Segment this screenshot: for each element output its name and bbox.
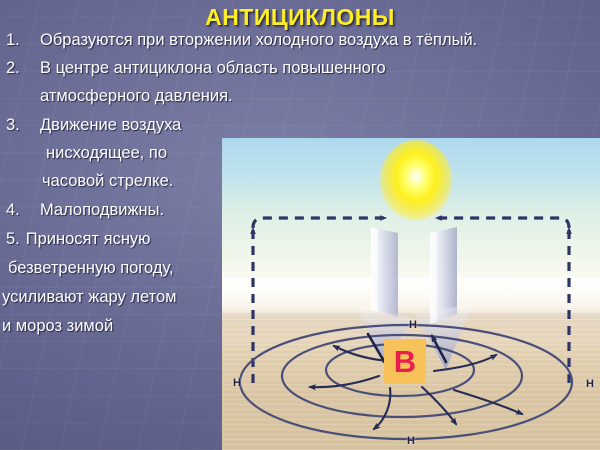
high-pressure-label: В	[394, 346, 416, 377]
list-item-label: часовой стрелке.	[42, 172, 173, 191]
list-item-label: Образуются при вторжении холодного возду…	[40, 31, 477, 50]
list-item-label: Приносят ясную	[20, 230, 151, 249]
page-title: АНТИЦИКЛОНЫ	[0, 4, 600, 31]
list-item-number: 3.	[0, 116, 40, 135]
high-pressure-center-box: В	[384, 339, 426, 383]
list-item-number: 5.	[6, 230, 20, 248]
list-item-label: усиливают жару летом	[2, 288, 176, 307]
diagram-vectors	[222, 138, 600, 450]
list-item-label: и мороз зимой	[2, 317, 113, 336]
list-item-number: 1.	[0, 31, 40, 50]
list-item-continuation: атмосферного давления.	[0, 87, 600, 106]
list-item: 1.Образуются при вторжении холодного воз…	[0, 31, 600, 50]
list-item-label: Движение воздуха	[40, 116, 181, 135]
list-item-label: Малоподвижны.	[40, 201, 164, 220]
list-item: 2.В центре антициклона область повышенно…	[0, 59, 600, 78]
list-item-label: безветренную погоду,	[8, 259, 174, 278]
wind-arrow-2	[310, 376, 379, 387]
low-pressure-label-right: Н	[586, 378, 594, 390]
slide-antitsiklony: АНТИЦИКЛОНЫ 1.Образуются при вторжении х…	[0, 0, 600, 450]
flow-arrow-top-left	[253, 218, 386, 228]
list-item-label: атмосферного давления.	[40, 87, 233, 106]
flow-arrow-top-right	[436, 218, 569, 228]
list-item-label: нисходящее, по	[46, 144, 167, 163]
anticyclone-diagram: В Н Н Н Н	[222, 138, 600, 450]
list-item-number: 4.	[0, 201, 40, 220]
list-item: 3.Движение воздуха	[0, 116, 600, 135]
list-item-label: В центре антициклона область повышенного	[40, 59, 386, 78]
low-pressure-label-bottom: Н	[407, 435, 415, 447]
low-pressure-label-top: Н	[409, 319, 417, 331]
list-item-number: 2.	[0, 59, 40, 78]
low-pressure-label-left: Н	[233, 377, 241, 389]
